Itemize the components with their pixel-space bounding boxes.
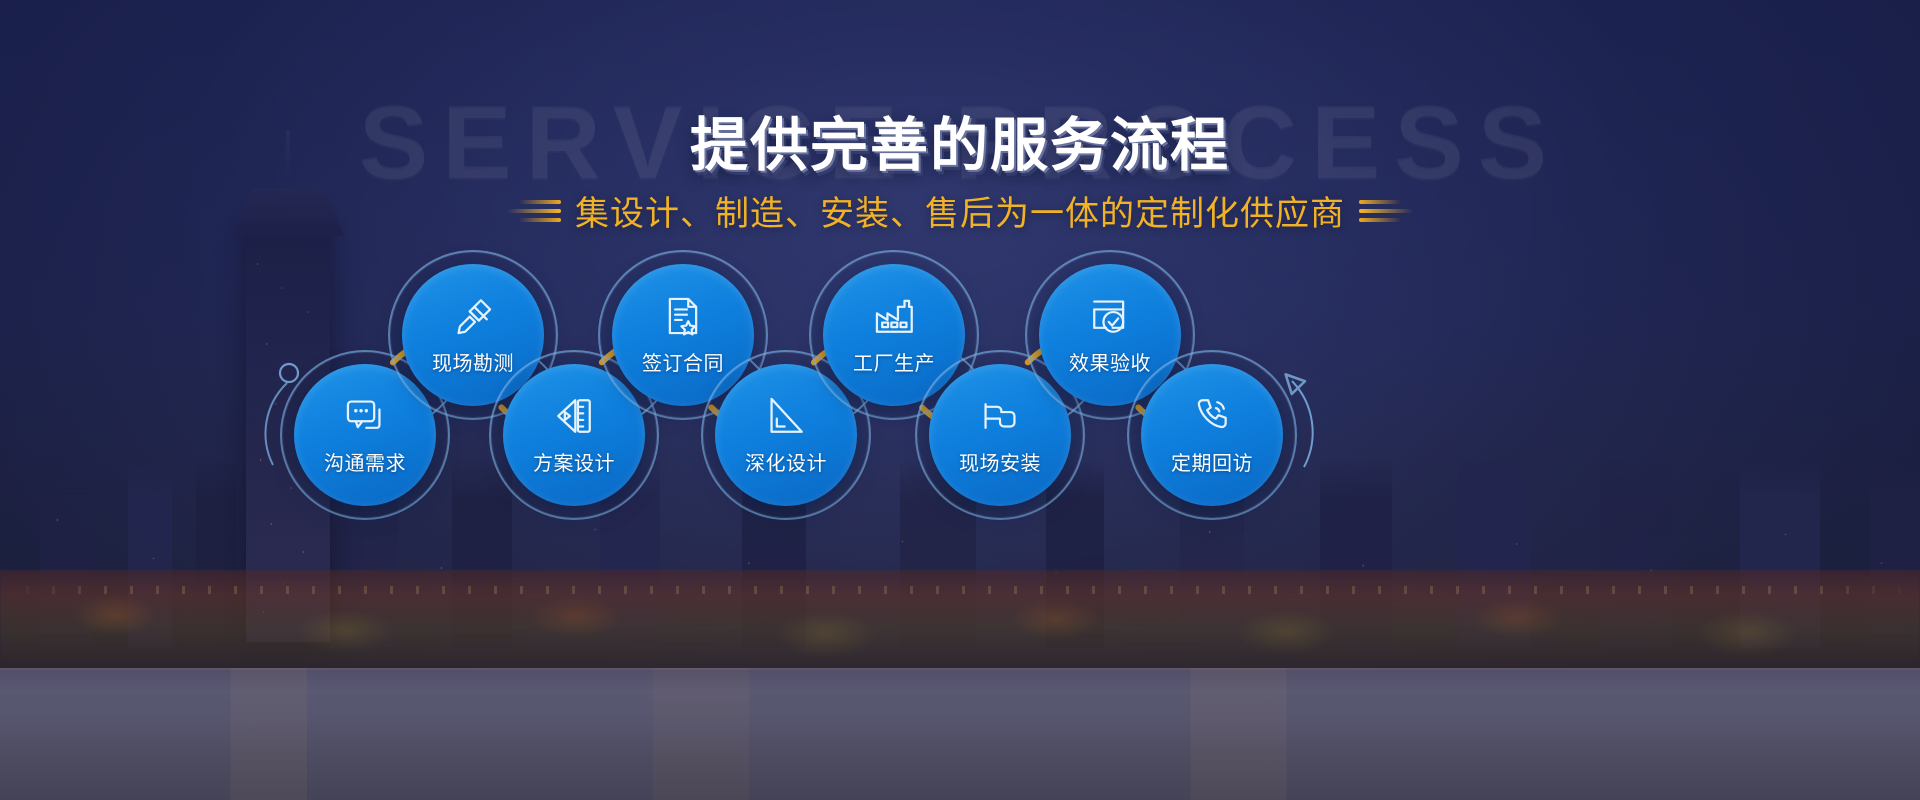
subtitle-text: 集设计、制造、安装、售后为一体的定制化供应商 — [575, 186, 1345, 235]
step-label: 现场安装 — [959, 447, 1041, 476]
page-title: 提供完善的服务流程 — [0, 98, 1920, 182]
background-water — [0, 668, 1920, 800]
power-drill-icon — [978, 394, 1022, 438]
service-process-banner: SERVICE PROCESS 提供完善的服务流程 集设计、制造、安装、售后为一… — [0, 0, 1920, 800]
subtitle-right-rules-icon — [1359, 200, 1415, 222]
contract-seal-icon — [661, 294, 705, 338]
ruler-arrow-icon — [552, 394, 596, 438]
chat-bubble-icon — [343, 394, 387, 438]
set-square-icon — [764, 394, 808, 438]
step-label: 方案设计 — [533, 447, 615, 476]
phone-call-icon — [1190, 394, 1234, 438]
factory-icon — [872, 294, 916, 338]
subtitle-row: 集设计、制造、安装、售后为一体的定制化供应商 — [0, 186, 1920, 235]
step-label: 定期回访 — [1171, 447, 1253, 476]
process-step-9[interactable]: 定期回访 — [1127, 350, 1297, 520]
window-check-icon — [1088, 294, 1132, 338]
process-flow: 沟通需求 现场勘测 方案设计 签订合同 深化设计 工厂生产 现场安装 效果验收 … — [0, 250, 1920, 630]
pencil-ruler-icon — [451, 294, 495, 338]
step-disc[interactable]: 定期回访 — [1141, 364, 1283, 506]
step-label: 沟通需求 — [324, 447, 406, 476]
step-label: 深化设计 — [745, 447, 827, 476]
subtitle-left-rules-icon — [505, 200, 561, 222]
